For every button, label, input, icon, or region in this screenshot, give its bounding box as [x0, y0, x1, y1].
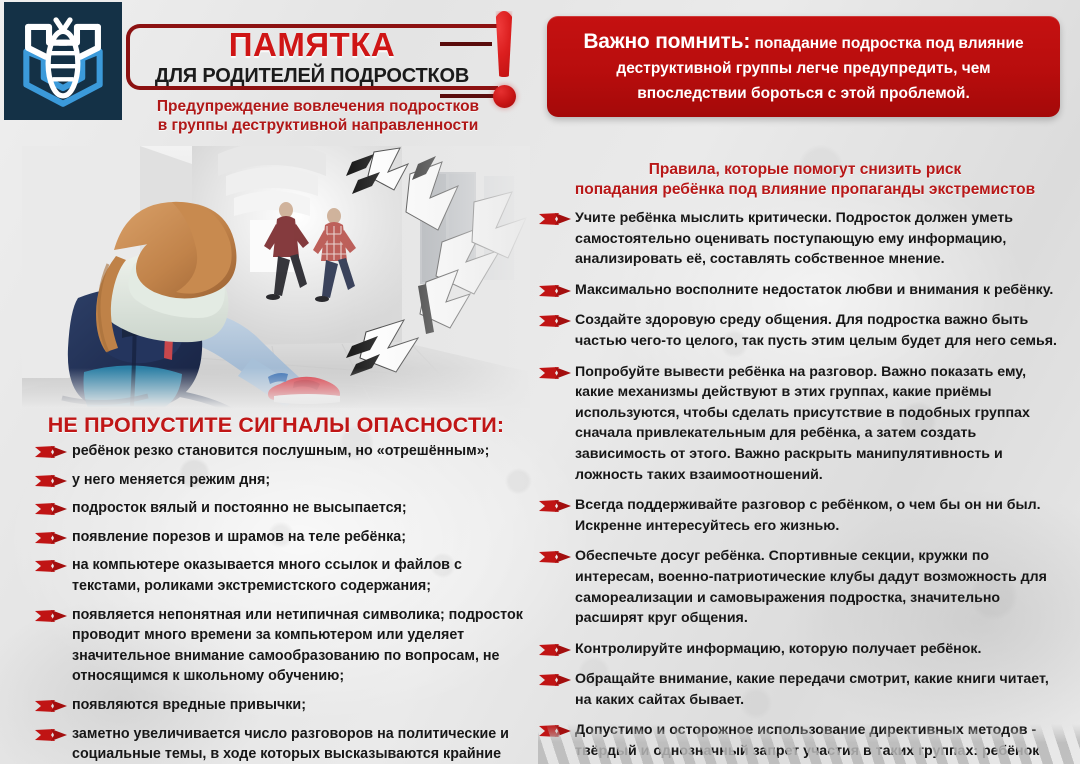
list-item: появляется непонятная или нетипичная сим…: [32, 605, 532, 687]
red-arrow-bullet-icon: [35, 608, 67, 624]
banner-lead-text: Важно помнить:: [583, 30, 750, 53]
red-arrow-bullet-icon: [539, 211, 571, 227]
red-arrow-bullet-icon: [539, 672, 571, 688]
red-arrow-bullet-icon: [35, 444, 67, 460]
poster-root: ПАМЯТКА ДЛЯ РОДИТЕЛЕЙ ПОДРОСТКОВ Предупр…: [0, 0, 1080, 764]
danger-signals-heading: НЕ ПРОПУСТИТЕ СИГНАЛЫ ОПАСНОСТИ:: [22, 413, 530, 438]
page-subtitle: ДЛЯ РОДИТЕЛЕЙ ПОДРОСТКОВ: [126, 64, 498, 88]
red-arrow-bullet-icon: [35, 530, 67, 546]
red-arrow-bullet-icon: [539, 642, 571, 658]
title-frame-connector-bottom: [440, 94, 496, 98]
list-item-text: Контролируйте информацию, которую получа…: [575, 641, 981, 657]
prevention-rules-heading: Правила, которые помогут снизить риск по…: [547, 160, 1063, 200]
list-item-text: Попробуйте вывести ребёнка на разговор. …: [575, 364, 1030, 483]
list-item-text: Максимально восполните недостаток любви …: [575, 282, 1053, 298]
title-frame-connector-top: [440, 42, 492, 46]
list-item: заметно увеличивается число разговоров н…: [32, 724, 532, 764]
list-item-text: на компьютере оказывается много ссылок и…: [72, 557, 462, 594]
list-item: Обращайте внимание, какие передачи смотр…: [539, 669, 1067, 710]
red-arrow-bullet-icon: [539, 549, 571, 565]
page-tagline-line-1: Предупреждение вовлечения подростков: [126, 97, 510, 116]
page-tagline-line-2: в группы деструктивной направленности: [126, 116, 510, 135]
list-item-text: появляются вредные привычки;: [72, 697, 306, 713]
list-item: появление порезов и шрамов на теле ребён…: [32, 527, 532, 548]
danger-signals-list: ребёнок резко становится послушным, но «…: [32, 441, 532, 764]
list-item: Обеспечьте досуг ребёнка. Спортивные сек…: [539, 546, 1067, 628]
prevention-rules-list: Учите ребёнка мыслить критически. Подрос…: [539, 208, 1067, 764]
page-tagline: Предупреждение вовлечения подростков в г…: [126, 97, 510, 135]
decorative-stripes: [538, 724, 1080, 764]
list-item: на компьютере оказывается много ссылок и…: [32, 555, 532, 596]
exclamation-dot-icon: [493, 85, 516, 108]
list-item: у него меняется режим дня;: [32, 470, 532, 491]
list-item-text: у него меняется режим дня;: [72, 472, 270, 488]
list-item: ребёнок резко становится послушным, но «…: [32, 441, 532, 462]
red-arrow-bullet-icon: [35, 558, 67, 574]
red-arrow-bullet-icon: [35, 698, 67, 714]
list-item-text: Создайте здоровую среду общения. Для под…: [575, 312, 1057, 349]
red-arrow-bullet-icon: [35, 473, 67, 489]
list-item-text: появление порезов и шрамов на теле ребён…: [72, 529, 406, 545]
prevention-rules-heading-line-2: попадания ребёнка под влияние пропаганды…: [547, 180, 1063, 200]
list-item: Контролируйте информацию, которую получа…: [539, 639, 1067, 660]
list-item: Всегда поддерживайте разговор с ребёнком…: [539, 495, 1067, 536]
bullied-teen-photo: [22, 146, 530, 408]
list-item-text: Всегда поддерживайте разговор с ребёнком…: [575, 497, 1041, 534]
photo-illustration: [22, 146, 530, 408]
list-item: подросток вялый и постоянно не высыпаетс…: [32, 498, 532, 519]
list-item-text: Обращайте внимание, какие передачи смотр…: [575, 671, 1049, 708]
important-notice-banner: Важно помнить: попадание подростка под в…: [547, 16, 1060, 117]
red-arrow-bullet-icon: [35, 501, 67, 517]
list-item: Попробуйте вывести ребёнка на разговор. …: [539, 362, 1067, 486]
red-arrow-bullet-icon: [539, 313, 571, 329]
list-item-text: подросток вялый и постоянно не высыпаетс…: [72, 500, 407, 516]
prevention-rules-heading-line-1: Правила, которые помогут снизить риск: [547, 160, 1063, 180]
list-item: Учите ребёнка мыслить критически. Подрос…: [539, 208, 1067, 270]
list-item-text: Учите ребёнка мыслить критически. Подрос…: [575, 210, 1013, 267]
list-item-text: Обеспечьте досуг ребёнка. Спортивные сек…: [575, 548, 1047, 626]
list-item: Максимально восполните недостаток любви …: [539, 280, 1067, 301]
shield-book-emblem-icon: [19, 13, 107, 109]
red-arrow-bullet-icon: [539, 365, 571, 381]
list-item-text: ребёнок резко становится послушным, но «…: [72, 443, 489, 459]
list-item: Создайте здоровую среду общения. Для под…: [539, 310, 1067, 351]
list-item-text: заметно увеличивается число разговоров н…: [72, 726, 509, 764]
list-item-text: появляется непонятная или нетипичная сим…: [72, 607, 523, 685]
red-arrow-bullet-icon: [539, 498, 571, 514]
red-arrow-bullet-icon: [539, 283, 571, 299]
list-item: появляются вредные привычки;: [32, 695, 532, 716]
red-arrow-bullet-icon: [35, 727, 67, 743]
organization-logo: [4, 2, 122, 120]
